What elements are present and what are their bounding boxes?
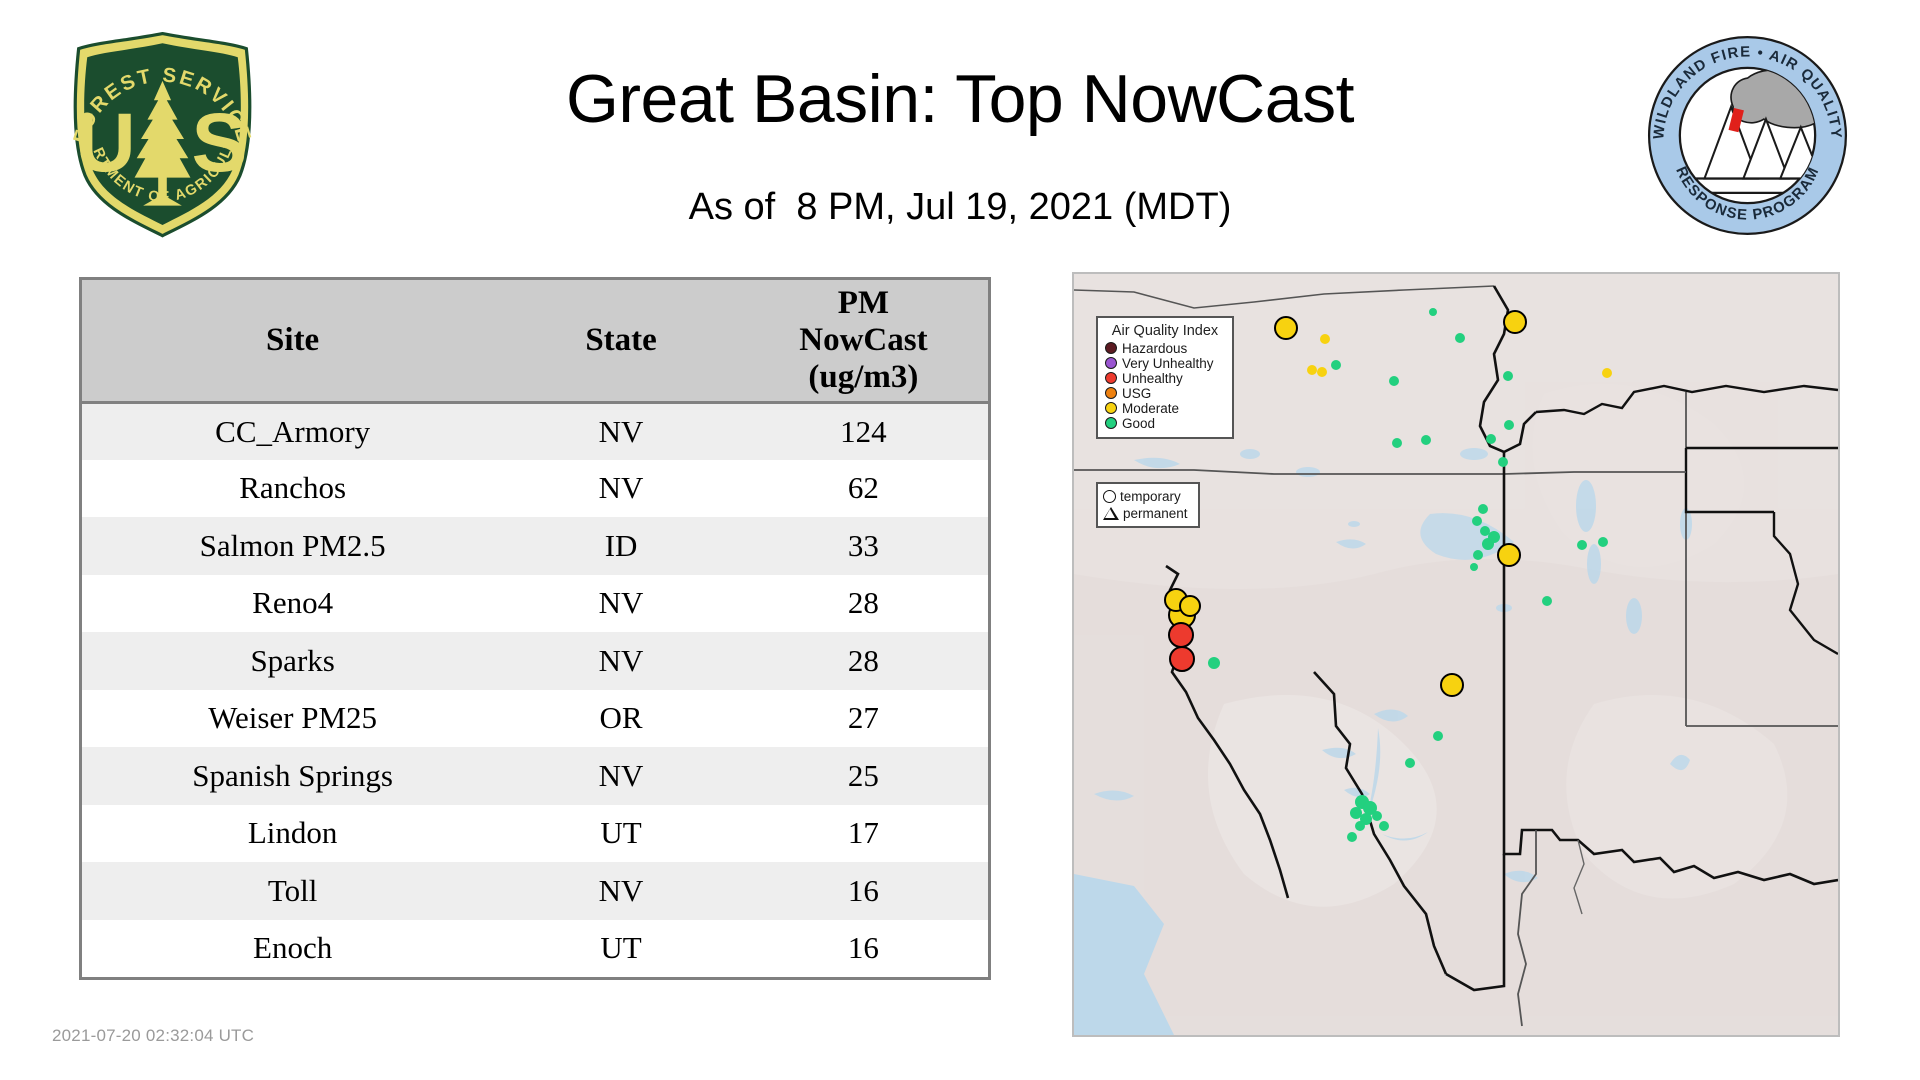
cell-value: 28 — [739, 632, 988, 690]
map-marker-temporary[interactable] — [1331, 360, 1341, 370]
map-marker-temporary[interactable] — [1317, 367, 1327, 377]
map-marker-temporary[interactable] — [1598, 537, 1608, 547]
map-marker-temporary[interactable] — [1455, 333, 1465, 343]
map-marker-temporary[interactable] — [1478, 504, 1488, 514]
table-row: RanchosNV62 — [82, 460, 988, 518]
column-header-state: State — [503, 280, 739, 402]
pm-label-line3: (ug/m3) — [808, 359, 918, 395]
map-marker-temporary[interactable] — [1429, 308, 1437, 316]
footer-timestamp: 2021-07-20 02:32:04 UTC — [52, 1026, 254, 1046]
cell-state: NV — [503, 575, 739, 633]
cell-site: Toll — [82, 862, 503, 920]
cell-site: Lindon — [82, 805, 503, 863]
map-marker-temporary[interactable] — [1274, 316, 1298, 340]
map-marker-temporary[interactable] — [1169, 646, 1195, 672]
map-marker-temporary[interactable] — [1389, 376, 1399, 386]
usfs-letter-u: U — [75, 95, 136, 189]
map-marker-temporary[interactable] — [1392, 438, 1402, 448]
map-marker-temporary[interactable] — [1602, 368, 1612, 378]
map-marker-temporary[interactable] — [1307, 365, 1317, 375]
map-marker-temporary[interactable] — [1208, 657, 1220, 669]
page-subtitle: As of 8 PM, Jul 19, 2021 (MDT) — [300, 186, 1620, 229]
map-marker-temporary[interactable] — [1179, 595, 1201, 617]
cell-value: 27 — [739, 690, 988, 748]
map-marker-temporary[interactable] — [1498, 457, 1508, 467]
map-marker-temporary[interactable] — [1472, 516, 1482, 526]
map-marker-temporary[interactable] — [1503, 371, 1513, 381]
cell-state: UT — [503, 805, 739, 863]
cell-value: 33 — [739, 517, 988, 575]
cell-state: NV — [503, 632, 739, 690]
map-marker-temporary[interactable] — [1433, 731, 1443, 741]
cell-value: 124 — [739, 402, 988, 460]
map-marker-temporary[interactable] — [1473, 550, 1483, 560]
cell-site: Weiser PM25 — [82, 690, 503, 748]
cell-site: Salmon PM2.5 — [82, 517, 503, 575]
map-marker-temporary[interactable] — [1320, 334, 1330, 344]
cell-site: Spanish Springs — [82, 747, 503, 805]
table-row: EnochUT16 — [82, 920, 988, 978]
cell-value: 25 — [739, 747, 988, 805]
cell-site: Reno4 — [82, 575, 503, 633]
cell-site: Ranchos — [82, 460, 503, 518]
cell-state: ID — [503, 517, 739, 575]
map-marker-temporary[interactable] — [1421, 435, 1431, 445]
map-marker-temporary[interactable] — [1168, 622, 1194, 648]
table-row: LindonUT17 — [82, 805, 988, 863]
wfaqrp-logo: WILDLAND FIRE • AIR QUALITY RESPONSE PRO… — [1645, 33, 1850, 238]
cell-site: CC_Armory — [82, 402, 503, 460]
map-marker-temporary[interactable] — [1486, 434, 1496, 444]
map-marker-temporary[interactable] — [1347, 832, 1357, 842]
pm-label-line1: PM — [838, 285, 889, 321]
page-title: Great Basin: Top NowCast — [300, 60, 1620, 138]
usfs-letter-s: S — [192, 95, 248, 189]
cell-value: 17 — [739, 805, 988, 863]
map-marker-temporary[interactable] — [1470, 563, 1478, 571]
map-marker-temporary[interactable] — [1497, 543, 1521, 567]
table-header-row: Site State PM NowCast (ug/m3) — [82, 280, 988, 402]
cell-state: UT — [503, 920, 739, 978]
pm-label-line2: NowCast — [799, 322, 927, 358]
cell-site: Enoch — [82, 920, 503, 978]
table-row: TollNV16 — [82, 862, 988, 920]
map-marker-temporary[interactable] — [1542, 596, 1552, 606]
nowcast-report-page: FOREST SERVICE DEPARTMENT OF AGRICULTURE… — [0, 0, 1920, 1080]
column-header-pm-nowcast: PM NowCast (ug/m3) — [739, 280, 988, 402]
map-marker-temporary[interactable] — [1503, 310, 1527, 334]
cell-state: NV — [503, 747, 739, 805]
map-marker-temporary[interactable] — [1372, 811, 1382, 821]
map-marker-temporary[interactable] — [1488, 531, 1500, 543]
cell-site: Sparks — [82, 632, 503, 690]
cell-state: NV — [503, 460, 739, 518]
cell-value: 16 — [739, 920, 988, 978]
cell-state: OR — [503, 690, 739, 748]
table-row: Spanish SpringsNV25 — [82, 747, 988, 805]
aqi-map[interactable]: Air Quality Index HazardousVery Unhealth… — [1072, 272, 1840, 1037]
column-header-site: Site — [82, 280, 503, 402]
cell-value: 16 — [739, 862, 988, 920]
cell-value: 28 — [739, 575, 988, 633]
cell-state: NV — [503, 402, 739, 460]
map-marker-temporary[interactable] — [1379, 821, 1389, 831]
cell-value: 62 — [739, 460, 988, 518]
cell-state: NV — [503, 862, 739, 920]
usfs-shield-logo: FOREST SERVICE DEPARTMENT OF AGRICULTURE… — [55, 25, 270, 240]
table-row: Salmon PM2.5ID33 — [82, 517, 988, 575]
map-marker-temporary[interactable] — [1577, 540, 1587, 550]
map-marker-temporary[interactable] — [1440, 673, 1464, 697]
monitor-marker-layer — [1074, 274, 1838, 1035]
map-marker-temporary[interactable] — [1504, 420, 1514, 430]
nowcast-table: Site State PM NowCast (ug/m3) CC_ArmoryN… — [79, 277, 991, 980]
table-row: Reno4NV28 — [82, 575, 988, 633]
table-row: SparksNV28 — [82, 632, 988, 690]
table-row: Weiser PM25OR27 — [82, 690, 988, 748]
map-marker-temporary[interactable] — [1355, 821, 1365, 831]
map-marker-temporary[interactable] — [1405, 758, 1415, 768]
table-row: CC_ArmoryNV124 — [82, 402, 988, 460]
